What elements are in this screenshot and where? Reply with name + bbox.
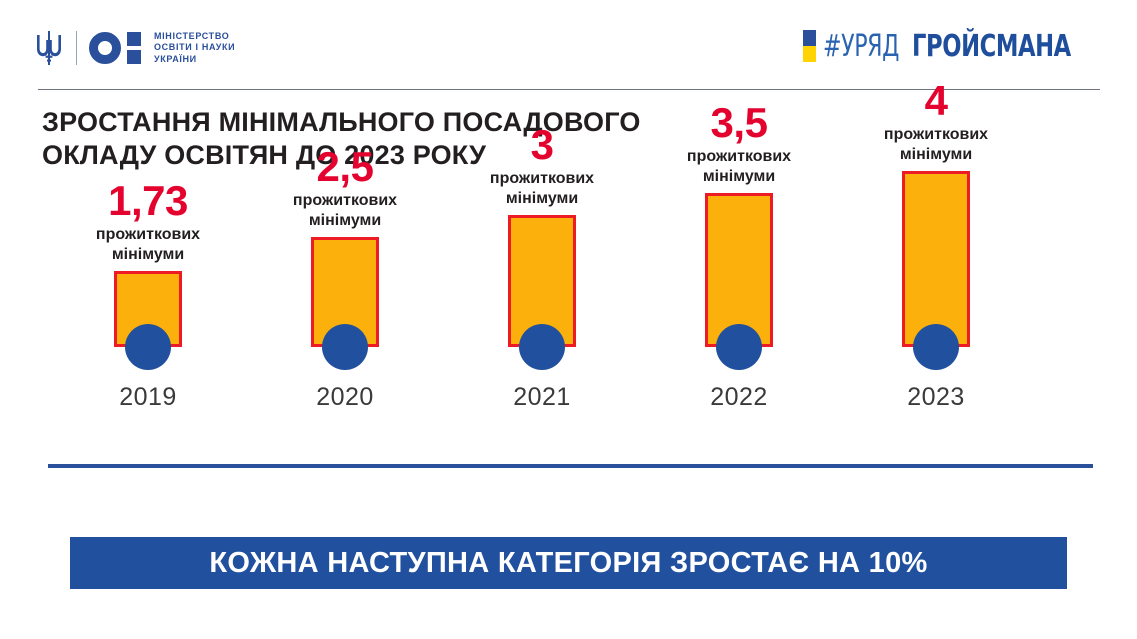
bar-value-label: 1,73 <box>53 179 243 223</box>
bar-caption: прожитковихмінімуми <box>250 191 440 231</box>
bar-caption-line-1: прожиткових <box>53 225 243 245</box>
bar-group: прожитковихмінімуми42023 <box>841 0 1031 520</box>
bar-caption: прожитковихмінімуми <box>53 225 243 265</box>
bar-caption-line-1: прожиткових <box>841 125 1031 145</box>
bar-chart: прожитковихмінімуми1,732019прожитковихмі… <box>0 0 1137 520</box>
axis-marker-dot <box>322 324 368 370</box>
bar-caption-line-1: прожиткових <box>447 169 637 189</box>
bar-caption-line-2: мінімуми <box>644 167 834 187</box>
bar-value-label: 4 <box>841 79 1031 123</box>
bar-caption-line-2: мінімуми <box>250 211 440 231</box>
axis-marker-dot <box>519 324 565 370</box>
axis-marker-dot <box>125 324 171 370</box>
axis-marker-dot <box>716 324 762 370</box>
bar-caption-line-1: прожиткових <box>644 147 834 167</box>
bar-year-label: 2019 <box>53 383 243 412</box>
footer-banner-text: КОЖНА НАСТУПНА КАТЕГОРІЯ ЗРОСТАЄ НА 10% <box>209 547 927 580</box>
bar-value-label: 3 <box>447 123 637 167</box>
chart-bar[interactable] <box>902 171 970 347</box>
bar-year-label: 2022 <box>644 383 834 412</box>
bar-year-label: 2020 <box>250 383 440 412</box>
infographic-page: МІНІСТЕРСТВО ОСВІТИ І НАУКИ УКРАЇНИ #УРЯ… <box>0 0 1137 639</box>
bar-year-label: 2021 <box>447 383 637 412</box>
bar-caption-line-1: прожиткових <box>250 191 440 211</box>
bar-group: прожитковихмінімуми1,732019 <box>53 0 243 520</box>
bar-caption-line-2: мінімуми <box>841 145 1031 165</box>
bar-group: прожитковихмінімуми32021 <box>447 0 637 520</box>
bar-caption: прожитковихмінімуми <box>447 169 637 209</box>
bar-group: прожитковихмінімуми3,52022 <box>644 0 834 520</box>
bar-value-label: 2,5 <box>250 145 440 189</box>
bar-caption-line-2: мінімуми <box>447 189 637 209</box>
bar-value-label: 3,5 <box>644 101 834 145</box>
bar-caption: прожитковихмінімуми <box>841 125 1031 165</box>
bar-caption-line-2: мінімуми <box>53 245 243 265</box>
bar-group: прожитковихмінімуми2,52020 <box>250 0 440 520</box>
bar-year-label: 2023 <box>841 383 1031 412</box>
bar-caption: прожитковихмінімуми <box>644 147 834 187</box>
footer-banner: КОЖНА НАСТУПНА КАТЕГОРІЯ ЗРОСТАЄ НА 10% <box>70 537 1067 589</box>
axis-marker-dot <box>913 324 959 370</box>
